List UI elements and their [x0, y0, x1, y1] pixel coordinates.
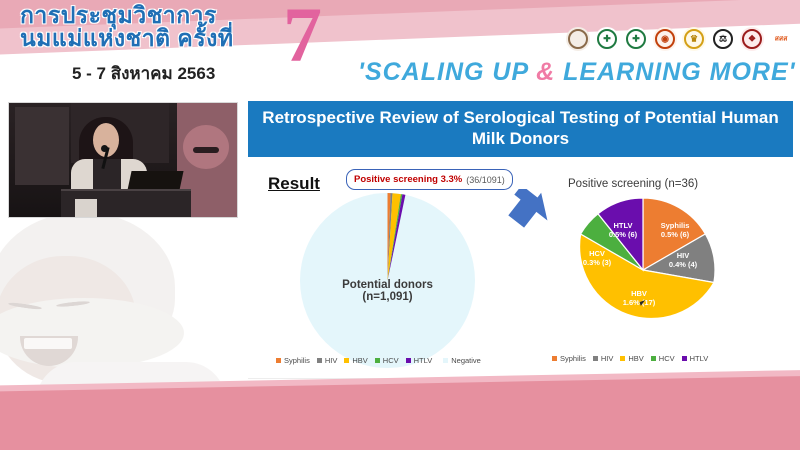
slice-label-hiv-value: 0.4% (4) [669, 260, 697, 269]
video-poster-eye [193, 147, 219, 153]
legend-swatch-negative [443, 358, 448, 363]
legend-swatch-syphilis-right [552, 356, 557, 361]
legend-swatch-syphilis [276, 358, 281, 363]
slice-label-hiv: HIV 0.4% (4) [660, 251, 706, 270]
medical-council-logo: ❖ [740, 27, 764, 51]
positive-screening-legend: Syphilis HIV HBV HCV HTLV [552, 354, 708, 363]
slice-label-htlv-value: 0.5% (6) [609, 230, 637, 239]
potential-donors-legend: Syphilis HIV HBV HCV HTLV Negative [276, 356, 481, 365]
pie-center-title: Potential donors [300, 279, 475, 291]
legend-item-htlv-right: HTLV [682, 354, 709, 363]
legend-item-hcv: HCV [375, 356, 399, 365]
legend-swatch-hcv [375, 358, 380, 363]
slice-label-hbv: HBV 1.6% (17) [612, 289, 666, 308]
conference-slogan: 'SCALING UP & LEARNING MORE' [358, 58, 796, 87]
legend-label-hbv: HBV [352, 356, 367, 365]
baby-teeth [24, 338, 72, 349]
slice-label-syphilis-value: 0.5% (6) [661, 230, 689, 239]
flow-arrow-icon [506, 189, 564, 237]
legend-label-syphilis: Syphilis [284, 356, 310, 365]
slice-label-hcv-value: 0.3% (3) [583, 258, 611, 267]
slice-label-htlv: HTLV 0.5% (6) [598, 221, 648, 240]
ministry-public-health-logo: ✚ [595, 27, 619, 51]
legend-item-syphilis-right: Syphilis [552, 354, 586, 363]
slide-title: Retrospective Review of Serological Test… [248, 101, 793, 157]
slice-label-syphilis-name: Syphilis [661, 221, 690, 230]
potential-donors-pie-chart: Potential donors (n=1,091) [300, 193, 475, 368]
thaihealth-sss-logo: สสส [769, 27, 793, 51]
pie-center-label: Potential donors (n=1,091) [300, 279, 475, 303]
pie-center-subtitle: (n=1,091) [300, 291, 475, 303]
legend-label-hiv: HIV [325, 356, 338, 365]
thai-title-line-2: นมแม่แห่งชาติ ครั้งที่ [20, 27, 320, 50]
legend-swatch-hbv-right [620, 356, 625, 361]
conference-date: 5 - 7 สิงหาคม 2563 [72, 60, 215, 87]
result-heading: Result [268, 174, 320, 194]
legend-label-negative: Negative [451, 356, 481, 365]
legend-item-hiv: HIV [317, 356, 338, 365]
legend-item-hbv-right: HBV [620, 354, 643, 363]
legend-item-hbv: HBV [344, 356, 367, 365]
video-wall-panel-left [15, 107, 69, 185]
legend-item-negative: Negative [443, 356, 481, 365]
slice-label-hcv-name: HCV [589, 249, 605, 258]
positive-screening-pie-title: Positive screening (n=36) [568, 178, 698, 190]
legend-label-hcv: HCV [383, 356, 399, 365]
legend-label-htlv-right: HTLV [690, 354, 709, 363]
legend-label-hiv-right: HIV [601, 354, 614, 363]
legend-item-hiv-right: HIV [593, 354, 614, 363]
legend-label-syphilis-right: Syphilis [560, 354, 586, 363]
slice-label-hcv: HCV 0.3% (3) [574, 249, 620, 268]
slice-label-hiv-name: HIV [677, 251, 690, 260]
royal-emblem-logo [566, 27, 590, 51]
university-logo: ⚖ [711, 27, 735, 51]
thai-foundation-logo: ◉ [653, 27, 677, 51]
slice-label-hbv-name: HBV [631, 289, 647, 298]
legend-item-hcv-right: HCV [651, 354, 675, 363]
presentation-slide: Retrospective Review of Serological Test… [248, 101, 793, 403]
edition-number: 7 [283, 0, 322, 74]
legend-swatch-hbv [344, 358, 349, 363]
podium-panel [75, 199, 97, 217]
legend-item-htlv: HTLV [406, 356, 433, 365]
slogan-ampersand: & [536, 58, 555, 86]
positive-screening-callout: Positive screening 3.3% (36/1091) [346, 169, 513, 190]
slice-label-syphilis: Syphilis 0.5% (6) [648, 221, 702, 240]
legend-label-hbv-right: HBV [628, 354, 643, 363]
department-health-logo: ✚ [624, 27, 648, 51]
baby-watermark-image [0, 212, 240, 407]
slice-label-htlv-name: HTLV [613, 221, 632, 230]
legend-label-hcv-right: HCV [659, 354, 675, 363]
pie-slices [570, 197, 716, 343]
legend-item-syphilis: Syphilis [276, 356, 310, 365]
screenshot-stage: การประชุมวิชาการ นมแม่แห่งชาติ ครั้งที่ … [0, 0, 800, 450]
legend-swatch-htlv-right [682, 356, 687, 361]
speaker-video-inset[interactable] [8, 102, 238, 218]
positive-screening-pie-chart: Syphilis 0.5% (6) HIV 0.4% (4) HBV 1.6% … [570, 197, 716, 343]
royal-crest-logo: ♛ [682, 27, 706, 51]
sponsor-logos: ✚ ✚ ◉ ♛ ⚖ ❖ สสส [566, 22, 796, 56]
legend-swatch-hcv-right [651, 356, 656, 361]
slogan-part-2: LEARNING MORE' [555, 58, 795, 86]
conference-thai-title: การประชุมวิชาการ นมแม่แห่งชาติ ครั้งที่ [20, 4, 320, 51]
thai-title-line-1: การประชุมวิชาการ [20, 4, 320, 27]
legend-swatch-htlv [406, 358, 411, 363]
legend-swatch-hiv [317, 358, 322, 363]
slogan-part-1: 'SCALING UP [358, 58, 536, 86]
legend-swatch-hiv-right [593, 356, 598, 361]
callout-highlight-text: Positive screening 3.3% [354, 174, 462, 185]
legend-label-htlv: HTLV [414, 356, 433, 365]
callout-detail-text: (36/1091) [466, 175, 505, 185]
